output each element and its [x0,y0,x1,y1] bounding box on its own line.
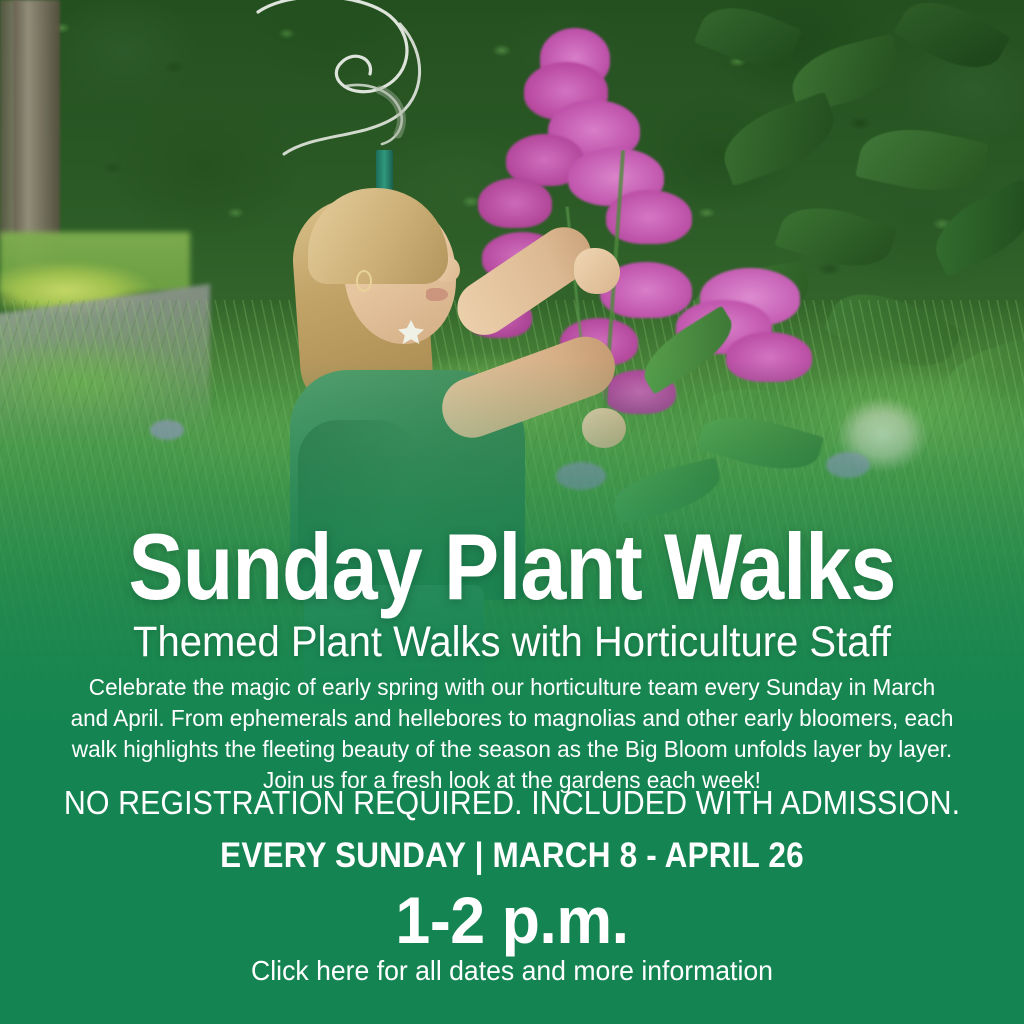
event-time: 1-2 p.m. [26,882,999,958]
more-information-link[interactable]: Click here for all dates and more inform… [26,955,999,987]
page-title: Sunday Plant Walks [61,520,962,614]
poster-description: Celebrate the magic of early spring with… [70,672,953,796]
event-promo-poster: Sunday Plant Walks Themed Plant Walks wi… [0,0,1024,1024]
schedule-text: EVERY SUNDAY | MARCH 8 - APRIL 26 [51,836,973,876]
registration-note: NO REGISTRATION REQUIRED. INCLUDED WITH … [41,784,983,822]
poster-text: Sunday Plant Walks Themed Plant Walks wi… [0,0,1024,1024]
poster-subtitle: Themed Plant Walks with Horticulture Sta… [36,620,988,665]
